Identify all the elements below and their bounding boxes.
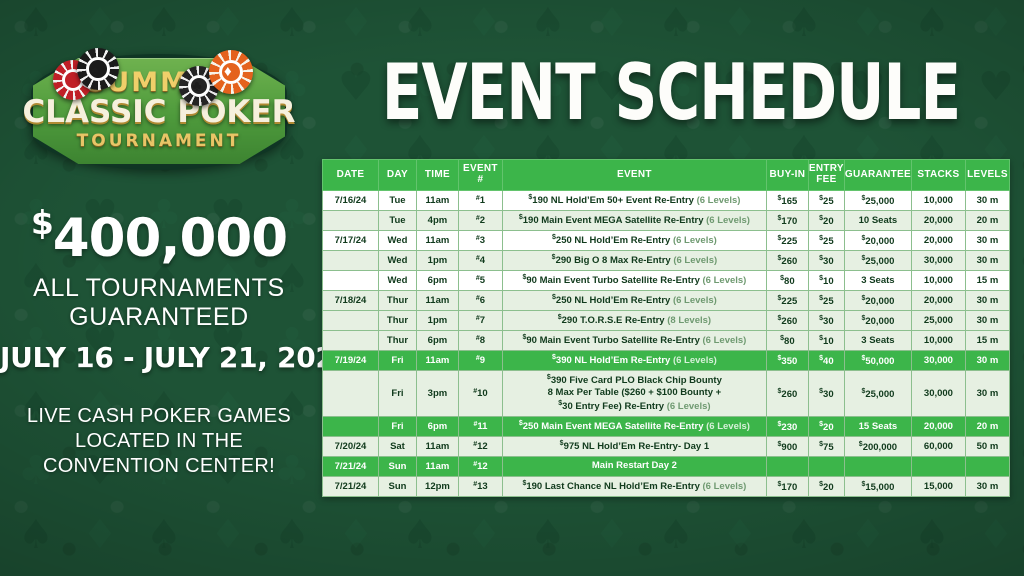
cell-levels: 30 m — [965, 351, 1009, 371]
cell-time: 11am — [416, 231, 458, 251]
column-header-levels: LEVELS — [965, 160, 1009, 191]
event-date-range: JULY 16 - JULY 21, 2024 — [0, 341, 318, 374]
cell-stacks: 20,000 — [911, 211, 965, 231]
cell-levels: 15 m — [965, 271, 1009, 291]
column-header-day: DAY — [378, 160, 416, 191]
cell-day: Tue — [378, 191, 416, 211]
cell-buyin: $350 — [766, 351, 808, 371]
cell-event-number: #12 — [458, 457, 502, 477]
cell-levels: 30 m — [965, 291, 1009, 311]
cell-time: 12pm — [416, 477, 458, 497]
cell-date: 7/17/24 — [323, 231, 379, 251]
cell-time: 11am — [416, 291, 458, 311]
cell-time: 1pm — [416, 311, 458, 331]
cell-day: Wed — [378, 251, 416, 271]
cell-event-number: #10 — [458, 371, 502, 417]
cell-buyin: $225 — [766, 291, 808, 311]
cell-stacks: 20,000 — [911, 231, 965, 251]
cell-time: 1pm — [416, 251, 458, 271]
column-header-entry-fee: ENTRY FEE — [808, 160, 844, 191]
cell-entry-fee: $20 — [808, 477, 844, 497]
cell-date — [323, 311, 379, 331]
column-header-event-number: EVENT # — [458, 160, 502, 191]
schedule-table-container: DATE DAY TIME EVENT # EVENT BUY-IN ENTRY… — [322, 159, 1010, 497]
table-row: Thur1pm#7$290 T.O.R.S.E Re-Entry (8 Leve… — [323, 311, 1010, 331]
cell-event-name: $975 NL Hold’Em Re-Entry- Day 1 — [502, 437, 766, 457]
cell-guarantee: $25,000 — [844, 251, 911, 271]
cell-levels: 20 m — [965, 417, 1009, 437]
table-row: 7/16/24Tue11am#1$190 NL Hold’Em 50+ Even… — [323, 191, 1010, 211]
cell-event-number: #8 — [458, 331, 502, 351]
table-row: Fri3pm#10$390 Five Card PLO Black Chip B… — [323, 371, 1010, 417]
cell-event-number: #4 — [458, 251, 502, 271]
cell-event-name: $250 NL Hold’Em Re-Entry (6 Levels) — [502, 231, 766, 251]
cell-event-number: #9 — [458, 351, 502, 371]
cell-day: Fri — [378, 371, 416, 417]
cell-event-number: #13 — [458, 477, 502, 497]
table-row: 7/21/24Sun11am#12Main Restart Day 2 — [323, 457, 1010, 477]
cell-time: 11am — [416, 437, 458, 457]
cell-buyin — [766, 457, 808, 477]
cell-time: 4pm — [416, 211, 458, 231]
cell-date: 7/18/24 — [323, 291, 379, 311]
cell-entry-fee: $30 — [808, 371, 844, 417]
cell-event-name: $390 Five Card PLO Black Chip Bounty8 Ma… — [502, 371, 766, 417]
cell-stacks: 30,000 — [911, 351, 965, 371]
cell-event-number: #6 — [458, 291, 502, 311]
cell-entry-fee: $75 — [808, 437, 844, 457]
cell-day: Sun — [378, 457, 416, 477]
cell-levels: 15 m — [965, 331, 1009, 351]
cell-stacks: 10,000 — [911, 271, 965, 291]
column-header-event: EVENT — [502, 160, 766, 191]
cell-event-number: #12 — [458, 437, 502, 457]
event-schedule-table: DATE DAY TIME EVENT # EVENT BUY-IN ENTRY… — [322, 159, 1010, 497]
cell-guarantee: $50,000 — [844, 351, 911, 371]
cell-time: 11am — [416, 351, 458, 371]
cell-buyin: $260 — [766, 311, 808, 331]
cell-entry-fee: $10 — [808, 271, 844, 291]
column-header-buyin: BUY-IN — [766, 160, 808, 191]
cash-games-note: LIVE CASH POKER GAMES LOCATED IN THE CON… — [27, 404, 291, 478]
cell-levels: 30 m — [965, 311, 1009, 331]
cell-guarantee: 3 Seats — [844, 271, 911, 291]
cell-guarantee: $20,000 — [844, 231, 911, 251]
cell-buyin: $165 — [766, 191, 808, 211]
cell-day: Tue — [378, 211, 416, 231]
cell-date: 7/21/24 — [323, 457, 379, 477]
guarantee-subtitle-line1: ALL TOURNAMENTS — [0, 274, 318, 303]
event-schedule-poster: ♠ ♦ ♣ ♥ ♠ ♣ ♦ SUMMER CLASSIC POKER TOURN… — [0, 0, 1024, 576]
cell-event-name: $290 T.O.R.S.E Re-Entry (8 Levels) — [502, 311, 766, 331]
guarantee-block: $400,000 ALL TOURNAMENTS GUARANTEED JULY… — [0, 206, 318, 374]
cell-buyin: $80 — [766, 271, 808, 291]
cell-day: Thur — [378, 311, 416, 331]
cell-date — [323, 417, 379, 437]
column-header-date: DATE — [323, 160, 379, 191]
cell-entry-fee: $20 — [808, 211, 844, 231]
cell-levels: 30 m — [965, 231, 1009, 251]
cell-time: 11am — [416, 191, 458, 211]
left-panel: ♠ ♣ ♦ SUMMER CLASSIC POKER TOURNAMENT $4… — [0, 0, 318, 576]
cell-day: Wed — [378, 231, 416, 251]
cell-levels: 30 m — [965, 477, 1009, 497]
table-row: Tue4pm#2$190 Main Event MEGA Satellite R… — [323, 211, 1010, 231]
cell-stacks: 30,000 — [911, 251, 965, 271]
guarantee-subtitle: ALL TOURNAMENTS GUARANTEED — [0, 274, 318, 331]
cell-entry-fee: $25 — [808, 231, 844, 251]
cell-entry-fee: $25 — [808, 291, 844, 311]
cell-buyin: $225 — [766, 231, 808, 251]
table-row: Wed6pm#5$90 Main Event Turbo Satellite R… — [323, 271, 1010, 291]
cell-time: 6pm — [416, 417, 458, 437]
cell-event-name: $190 Last Chance NL Hold’Em Re-Entry (6 … — [502, 477, 766, 497]
cell-entry-fee: $40 — [808, 351, 844, 371]
cell-levels: 30 m — [965, 251, 1009, 271]
cell-date: 7/20/24 — [323, 437, 379, 457]
chip-diamond-icon: ♦ — [224, 64, 232, 79]
cell-stacks: 20,000 — [911, 417, 965, 437]
cell-time: 6pm — [416, 271, 458, 291]
cell-event-name: Main Restart Day 2 — [502, 457, 766, 477]
guarantee-subtitle-line2: GUARANTEED — [0, 303, 318, 332]
cell-guarantee: $20,000 — [844, 291, 911, 311]
cell-buyin: $80 — [766, 331, 808, 351]
cell-stacks: 30,000 — [911, 371, 965, 417]
cell-event-number: #5 — [458, 271, 502, 291]
table-row: Wed1pm#4$290 Big O 8 Max Re-Entry (6 Lev… — [323, 251, 1010, 271]
table-row: Thur6pm#8$90 Main Event Turbo Satellite … — [323, 331, 1010, 351]
cell-buyin: $260 — [766, 251, 808, 271]
cash-games-note-line1: LIVE CASH POKER GAMES — [27, 404, 291, 429]
cell-day: Fri — [378, 417, 416, 437]
cell-stacks: 20,000 — [911, 291, 965, 311]
cell-entry-fee: $10 — [808, 331, 844, 351]
table-row: 7/19/24Fri11am#9$390 NL Hold’Em Re-Entry… — [323, 351, 1010, 371]
currency-symbol: $ — [31, 203, 53, 242]
cell-date: 7/16/24 — [323, 191, 379, 211]
cell-date — [323, 211, 379, 231]
cell-event-name: $90 Main Event Turbo Satellite Re-Entry … — [502, 331, 766, 351]
cell-stacks: 15,000 — [911, 477, 965, 497]
cell-guarantee: $25,000 — [844, 191, 911, 211]
cell-day: Fri — [378, 351, 416, 371]
cell-event-number: #1 — [458, 191, 502, 211]
cell-date: 7/21/24 — [323, 477, 379, 497]
cell-levels: 30 m — [965, 371, 1009, 417]
cell-date — [323, 251, 379, 271]
logo-line-classic-poker: CLASSIC POKER — [23, 97, 296, 129]
cell-stacks: 60,000 — [911, 437, 965, 457]
cell-buyin: $170 — [766, 211, 808, 231]
guarantee-amount: $400,000 — [0, 206, 318, 265]
cell-guarantee: 3 Seats — [844, 331, 911, 351]
cell-guarantee: 15 Seats — [844, 417, 911, 437]
page-title: EVENT SCHEDULE — [332, 54, 1010, 132]
cell-time: 6pm — [416, 331, 458, 351]
table-row: 7/21/24Sun12pm#13$190 Last Chance NL Hol… — [323, 477, 1010, 497]
cell-stacks: 10,000 — [911, 191, 965, 211]
cell-stacks — [911, 457, 965, 477]
column-header-stacks: STACKS — [911, 160, 965, 191]
cell-stacks: 10,000 — [911, 331, 965, 351]
cell-entry-fee — [808, 457, 844, 477]
table-row: 7/20/24Sat11am#12$975 NL Hold’Em Re-Entr… — [323, 437, 1010, 457]
chip-club-icon: ♣ — [192, 79, 202, 94]
cell-entry-fee: $30 — [808, 251, 844, 271]
tournament-logo: ♠ ♣ ♦ SUMMER CLASSIC POKER TOURNAMENT — [25, 44, 293, 176]
cell-entry-fee: $25 — [808, 191, 844, 211]
cell-event-number: #11 — [458, 417, 502, 437]
cell-buyin: $900 — [766, 437, 808, 457]
column-header-entry-fee-line1: ENTRY — [809, 163, 844, 174]
cell-date — [323, 331, 379, 351]
cell-levels: 20 m — [965, 211, 1009, 231]
cell-guarantee — [844, 457, 911, 477]
column-header-event-number-line2: # — [477, 174, 483, 185]
cell-event-number: #2 — [458, 211, 502, 231]
table-header-row: DATE DAY TIME EVENT # EVENT BUY-IN ENTRY… — [323, 160, 1010, 191]
cell-guarantee: $15,000 — [844, 477, 911, 497]
column-header-guarantee: GUARANTEE — [844, 160, 911, 191]
cash-games-note-line3: CONVENTION CENTER! — [27, 454, 291, 479]
cell-day: Sat — [378, 437, 416, 457]
cell-buyin: $170 — [766, 477, 808, 497]
cell-day: Thur — [378, 331, 416, 351]
cell-time: 11am — [416, 457, 458, 477]
chip-spade-icon: ♠ — [91, 63, 99, 78]
cell-day: Thur — [378, 291, 416, 311]
cell-time: 3pm — [416, 371, 458, 417]
cell-event-number: #3 — [458, 231, 502, 251]
guarantee-amount-value: 400,000 — [53, 208, 287, 269]
table-body: 7/16/24Tue11am#1$190 NL Hold’Em 50+ Even… — [323, 191, 1010, 497]
cell-date — [323, 271, 379, 291]
cell-buyin: $230 — [766, 417, 808, 437]
cell-event-name: $250 Main Event MEGA Satellite Re-Entry … — [502, 417, 766, 437]
cell-event-name: $390 NL Hold’Em Re-Entry (6 Levels) — [502, 351, 766, 371]
cell-entry-fee: $20 — [808, 417, 844, 437]
cell-stacks: 25,000 — [911, 311, 965, 331]
cell-date — [323, 371, 379, 417]
cell-levels: 50 m — [965, 437, 1009, 457]
cell-guarantee: $20,000 — [844, 311, 911, 331]
table-row: Fri6pm#11$250 Main Event MEGA Satellite … — [323, 417, 1010, 437]
cell-event-name: $90 Main Event Turbo Satellite Re-Entry … — [502, 271, 766, 291]
cell-guarantee: $25,000 — [844, 371, 911, 417]
cash-games-note-line2: LOCATED IN THE — [27, 429, 291, 454]
cell-date: 7/19/24 — [323, 351, 379, 371]
cell-day: Sun — [378, 477, 416, 497]
table-row: 7/18/24Thur11am#6$250 NL Hold’Em Re-Entr… — [323, 291, 1010, 311]
cell-levels — [965, 457, 1009, 477]
cell-entry-fee: $30 — [808, 311, 844, 331]
table-header: DATE DAY TIME EVENT # EVENT BUY-IN ENTRY… — [323, 160, 1010, 191]
cell-guarantee: $200,000 — [844, 437, 911, 457]
cell-event-name: $190 NL Hold’Em 50+ Event Re-Entry (6 Le… — [502, 191, 766, 211]
column-header-time: TIME — [416, 160, 458, 191]
cell-event-name: $250 NL Hold’Em Re-Entry (6 Levels) — [502, 291, 766, 311]
cell-buyin: $260 — [766, 371, 808, 417]
cell-day: Wed — [378, 271, 416, 291]
right-panel: EVENT SCHEDULE DATE DAY TIME EVENT # EVE… — [318, 0, 1024, 576]
cell-levels: 30 m — [965, 191, 1009, 211]
column-header-event-number-line1: EVENT — [463, 163, 498, 174]
column-header-entry-fee-line2: FEE — [816, 174, 836, 185]
cell-event-name: $190 Main Event MEGA Satellite Re-Entry … — [502, 211, 766, 231]
cell-event-name: $290 Big O 8 Max Re-Entry (6 Levels) — [502, 251, 766, 271]
logo-line-tournament: TOURNAMENT — [77, 131, 242, 151]
cell-guarantee: 10 Seats — [844, 211, 911, 231]
table-row: 7/17/24Wed11am#3$250 NL Hold’Em Re-Entry… — [323, 231, 1010, 251]
cell-event-number: #7 — [458, 311, 502, 331]
